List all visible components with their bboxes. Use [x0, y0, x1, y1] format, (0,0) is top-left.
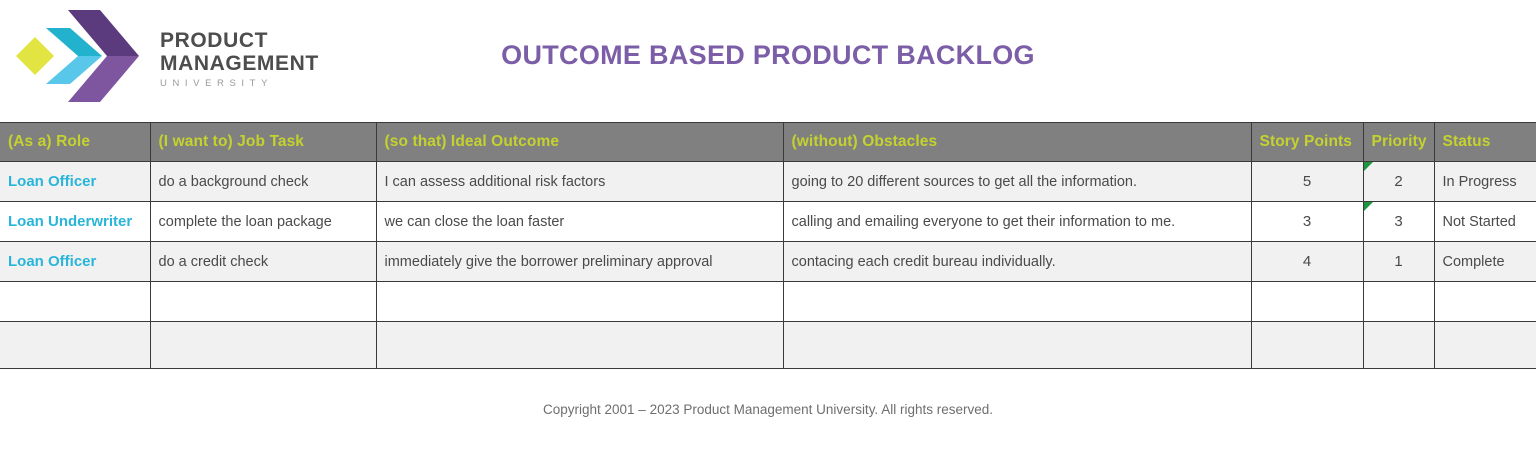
page-root: PRODUCT MANAGEMENT UNIVERSITY OUTCOME BA… [0, 0, 1536, 450]
job-task-value: complete the loan package [159, 214, 332, 230]
cell-priority[interactable]: 3 [1363, 202, 1434, 242]
priority-value: 3 [1394, 213, 1402, 230]
cell-priority[interactable] [1363, 322, 1434, 369]
cell-status[interactable] [1434, 282, 1536, 322]
cell-priority[interactable]: 2 [1363, 162, 1434, 202]
logo-word-university: UNIVERSITY [160, 75, 340, 93]
priority-value: 1 [1394, 253, 1402, 270]
table-row[interactable]: Loan Officer do a background check I can… [0, 162, 1536, 202]
comment-flag-icon [1364, 162, 1373, 171]
cell-ideal-outcome[interactable]: immediately give the borrower preliminar… [376, 242, 783, 282]
job-task-value: do a background check [159, 174, 309, 190]
priority-value: 2 [1394, 173, 1402, 190]
cell-role[interactable] [0, 322, 150, 369]
story-points-value: 5 [1303, 173, 1311, 190]
table-header-row: (As a) Role (I want to) Job Task (so tha… [0, 123, 1536, 162]
ideal-outcome-value: we can close the loan faster [385, 214, 565, 230]
cell-story-points[interactable] [1251, 322, 1363, 369]
comment-flag-icon [1364, 202, 1373, 211]
cell-role[interactable]: Loan Underwriter [0, 202, 150, 242]
cell-obstacles[interactable]: going to 20 different sources to get all… [783, 162, 1251, 202]
column-header-job-task[interactable]: (I want to) Job Task [150, 123, 376, 162]
cell-ideal-outcome[interactable]: we can close the loan faster [376, 202, 783, 242]
cell-story-points[interactable]: 4 [1251, 242, 1363, 282]
cell-role[interactable]: Loan Officer [0, 162, 150, 202]
story-points-value: 4 [1303, 253, 1311, 270]
table-row[interactable] [0, 282, 1536, 322]
cell-status[interactable]: Complete [1434, 242, 1536, 282]
cell-priority[interactable] [1363, 282, 1434, 322]
role-value: Loan Underwriter [8, 213, 132, 230]
cell-obstacles[interactable] [783, 322, 1251, 369]
backlog-table: (As a) Role (I want to) Job Task (so tha… [0, 122, 1536, 369]
job-task-value: do a credit check [159, 254, 269, 270]
role-value: Loan Officer [8, 173, 96, 190]
cell-role[interactable]: Loan Officer [0, 242, 150, 282]
cell-status[interactable]: In Progress [1434, 162, 1536, 202]
cell-job-task[interactable] [150, 322, 376, 369]
cell-status[interactable]: Not Started [1434, 202, 1536, 242]
cell-job-task[interactable] [150, 282, 376, 322]
cell-story-points[interactable] [1251, 282, 1363, 322]
table-header: (As a) Role (I want to) Job Task (so tha… [0, 123, 1536, 162]
ideal-outcome-value: immediately give the borrower preliminar… [385, 254, 713, 270]
column-header-obstacles[interactable]: (without) Obstacles [783, 123, 1251, 162]
story-points-value: 3 [1303, 213, 1311, 230]
table-row[interactable] [0, 322, 1536, 369]
role-value: Loan Officer [8, 253, 96, 270]
cell-obstacles[interactable] [783, 282, 1251, 322]
cell-job-task[interactable]: do a credit check [150, 242, 376, 282]
cell-obstacles[interactable]: contacing each credit bureau individuall… [783, 242, 1251, 282]
cell-ideal-outcome[interactable] [376, 322, 783, 369]
cell-story-points[interactable]: 5 [1251, 162, 1363, 202]
column-header-priority[interactable]: Priority [1363, 123, 1434, 162]
footer-copyright: Copyright 2001 – 2023 Product Management… [0, 402, 1536, 417]
table-body: Loan Officer do a background check I can… [0, 162, 1536, 369]
column-header-status[interactable]: Status [1434, 123, 1536, 162]
cell-job-task[interactable]: do a background check [150, 162, 376, 202]
obstacles-value: contacing each credit bureau individuall… [792, 254, 1056, 270]
column-header-story-points[interactable]: Story Points [1251, 123, 1363, 162]
page-title: OUTCOME BASED PRODUCT BACKLOG [0, 40, 1536, 71]
column-header-ideal-outcome[interactable]: (so that) Ideal Outcome [376, 123, 783, 162]
obstacles-value: calling and emailing everyone to get the… [792, 214, 1176, 230]
obstacles-value: going to 20 different sources to get all… [792, 174, 1138, 190]
status-value: Not Started [1443, 214, 1516, 230]
page-header: PRODUCT MANAGEMENT UNIVERSITY OUTCOME BA… [0, 0, 1536, 122]
status-value: Complete [1443, 254, 1505, 270]
cell-priority[interactable]: 1 [1363, 242, 1434, 282]
cell-role[interactable] [0, 282, 150, 322]
table-row[interactable]: Loan Officer do a credit check immediate… [0, 242, 1536, 282]
ideal-outcome-value: I can assess additional risk factors [385, 174, 606, 190]
cell-ideal-outcome[interactable] [376, 282, 783, 322]
cell-job-task[interactable]: complete the loan package [150, 202, 376, 242]
column-header-role[interactable]: (As a) Role [0, 123, 150, 162]
table-row[interactable]: Loan Underwriter complete the loan packa… [0, 202, 1536, 242]
cell-status[interactable] [1434, 322, 1536, 369]
cell-story-points[interactable]: 3 [1251, 202, 1363, 242]
cell-obstacles[interactable]: calling and emailing everyone to get the… [783, 202, 1251, 242]
cell-ideal-outcome[interactable]: I can assess additional risk factors [376, 162, 783, 202]
status-value: In Progress [1443, 174, 1517, 190]
